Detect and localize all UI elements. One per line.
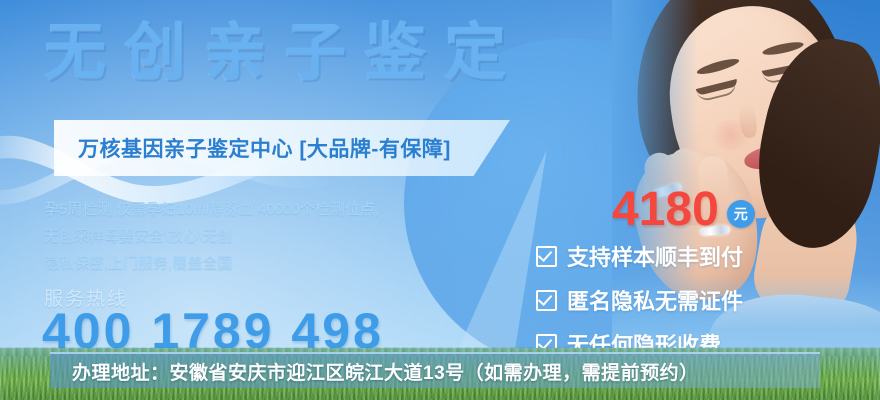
checkbox-checked-icon xyxy=(536,290,557,311)
benefit-label: 匿名隐私无需证件 xyxy=(567,284,743,316)
address-strip: 办理地址：安徽省安庆市迎江区皖江大道13号（如需办理，需提前预约） xyxy=(50,352,820,388)
list-item: 匿名隐私无需证件 xyxy=(536,284,743,316)
company-name: 万核基因亲子鉴定中心 [大品牌-有保障] xyxy=(78,133,451,163)
feature-line: 隐私保密,上门服务,覆盖全国 xyxy=(44,250,379,277)
advertisement-banner: 无创亲子鉴定 万核基因亲子鉴定中心 [大品牌-有保障] 孕5周检测,仅需孕妇10… xyxy=(0,0,880,400)
price-amount: 4180 xyxy=(612,186,719,234)
address-text: 办理地址：安徽省安庆市迎江区皖江大道13号（如需办理，需提前预约） xyxy=(50,358,699,385)
feature-line: 孕5周检测,仅需孕妇10ml静脉血,40000个检测位点, xyxy=(44,196,379,223)
price-block: 4180 元 xyxy=(612,186,755,234)
list-item: 支持样本顺丰到付 xyxy=(536,240,743,272)
checkbox-checked-icon xyxy=(536,246,557,267)
benefit-label: 支持样本顺丰到付 xyxy=(567,240,743,272)
feature-list: 孕5周检测,仅需孕妇10ml静脉血,40000个检测位点, 无创采样母婴安全\放… xyxy=(44,196,379,277)
feature-line: 无创采样母婴安全\放心\无创 xyxy=(44,223,379,250)
currency-badge: 元 xyxy=(727,200,755,228)
model-cheek-blush xyxy=(708,120,754,150)
page-title: 无创亲子鉴定 xyxy=(44,22,524,84)
